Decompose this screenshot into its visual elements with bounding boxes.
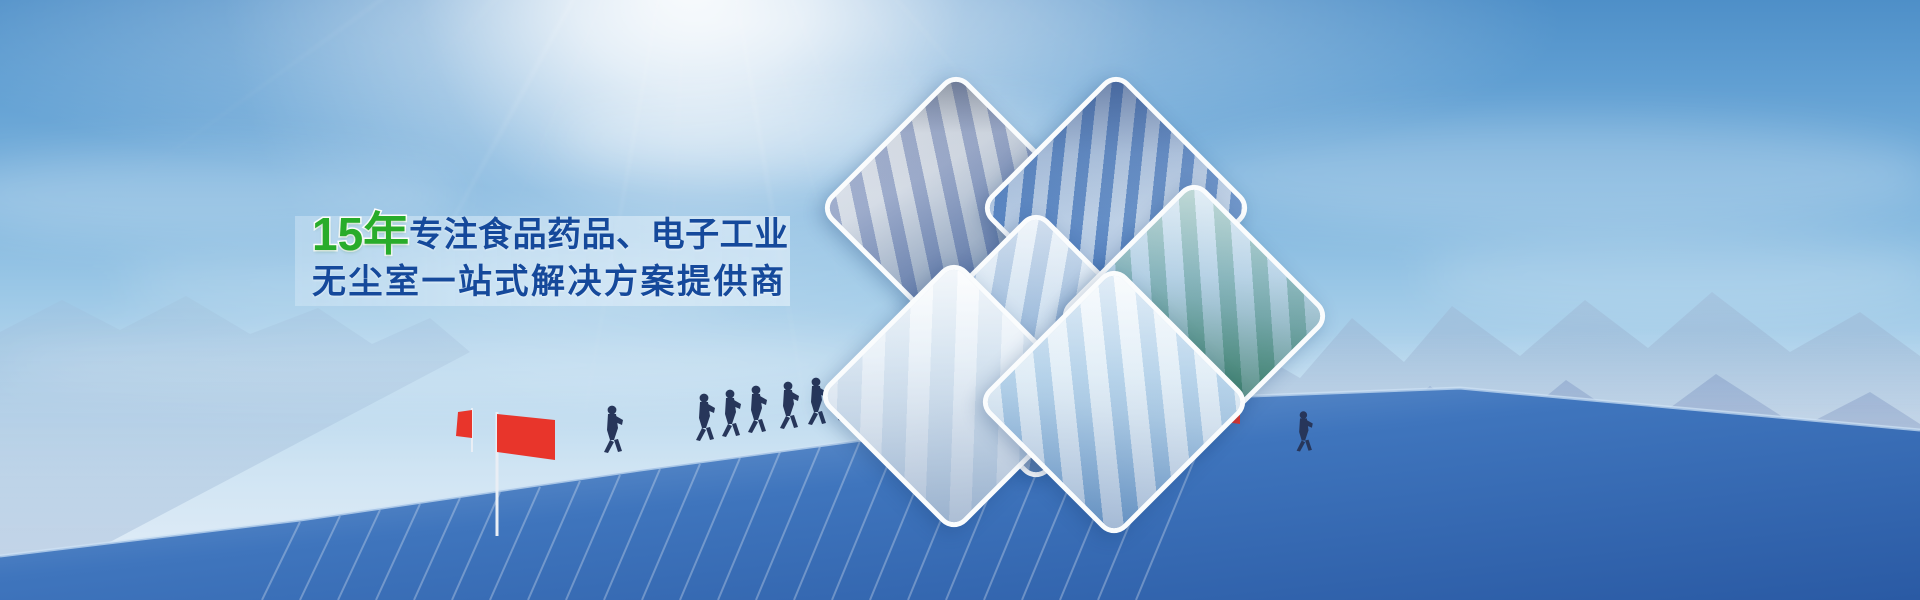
- years-badge: 15年: [312, 208, 409, 260]
- hero-banner: 15年专注食品药品、电子工业 无尘室一站式解决方案提供商: [0, 0, 1920, 600]
- headline-line-1: 15年专注食品药品、电子工业: [312, 209, 782, 261]
- photo-collage: [838, 88, 1278, 478]
- headline-line-2: 无尘室一站式解决方案提供商: [312, 263, 782, 301]
- headline-copy: 15年专注食品药品、电子工业 无尘室一站式解决方案提供商: [312, 200, 782, 310]
- headline-line-1-text: 专注食品药品、电子工业: [409, 216, 789, 254]
- summit-flag: [456, 408, 472, 452]
